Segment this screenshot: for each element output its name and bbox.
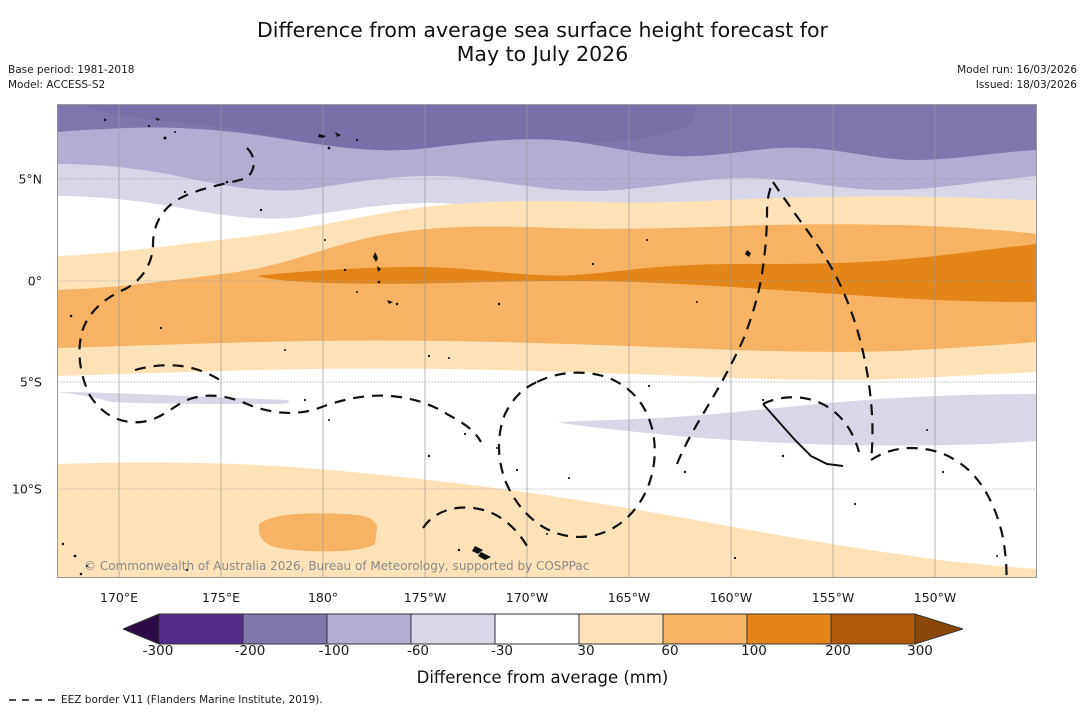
colorbar-seg--100--60	[327, 614, 411, 644]
x-axis-tick-170w: 170°W	[506, 590, 548, 605]
x-axis-tick-155w: 155°W	[812, 590, 854, 605]
colorbar-extend-low	[123, 614, 159, 644]
colorbar-tick--60: -60	[407, 643, 429, 659]
colorbar-tick--100: -100	[319, 643, 350, 659]
issued-text: Issued: 18/03/2026	[957, 78, 1077, 93]
x-axis-tick-175w: 175°W	[404, 590, 446, 605]
colorbar-seg--200--100	[243, 614, 327, 644]
colorbar-tick-100: 100	[741, 643, 767, 659]
model-text: Model: ACCESS-S2	[8, 78, 134, 93]
colorbar-tick-300: 300	[907, 643, 933, 659]
dashed-line-icon	[8, 695, 56, 705]
colorbar-tick-30: 30	[577, 643, 594, 659]
colorbar-seg--300--200	[159, 614, 243, 644]
x-axis-tick-175e: 175°E	[202, 590, 240, 605]
colorbar-seg-200-300	[831, 614, 915, 644]
colorbar-swatches	[123, 612, 963, 646]
colorbar-seg-100-200	[747, 614, 831, 644]
y-axis-tick-0: 0°	[28, 274, 42, 289]
colorbar-tick--30: -30	[491, 643, 513, 659]
colorbar-tick-60: 60	[661, 643, 678, 659]
y-axis-tick-5n: 5°N	[18, 172, 42, 187]
x-axis-tick-180: 180°	[308, 590, 338, 605]
model-run-text: Model run: 16/03/2026	[957, 63, 1077, 78]
colorbar-seg-60-100	[663, 614, 747, 644]
map-plot-area[interactable]: © Commonwealth of Australia 2026, Bureau…	[57, 104, 1037, 578]
y-axis-tick-10s: 10°S	[12, 482, 42, 497]
page-title: Difference from average sea surface heig…	[0, 18, 1085, 66]
metadata-left: Base period: 1981-2018 Model: ACCESS-S2	[8, 63, 134, 93]
colorbar-tick-200: 200	[825, 643, 851, 659]
colorbar-seg-30-60	[579, 614, 663, 644]
metadata-right: Model run: 16/03/2026 Issued: 18/03/2026	[957, 63, 1077, 93]
x-axis-tick-165w: 165°W	[608, 590, 650, 605]
title-line-2: May to July 2026	[0, 42, 1085, 66]
colorbar-tick--300: -300	[143, 643, 174, 659]
colorbar-tick--200: -200	[235, 643, 266, 659]
colorbar-axis-label: Difference from average (mm)	[0, 668, 1085, 687]
x-axis-tick-170e: 170°E	[100, 590, 138, 605]
x-axis-tick-150w: 150°W	[914, 590, 956, 605]
eez-legend: EEZ border V11 (Flanders Marine Institut…	[8, 694, 323, 706]
colorbar-seg--60--30	[411, 614, 495, 644]
band-60-100-southwest-core	[259, 513, 377, 551]
eez-legend-text: EEZ border V11 (Flanders Marine Institut…	[61, 694, 323, 706]
base-period-text: Base period: 1981-2018	[8, 63, 134, 78]
sea-surface-height-contour-map	[57, 104, 1037, 578]
title-line-1: Difference from average sea surface heig…	[0, 18, 1085, 42]
colorbar-extend-high	[915, 614, 963, 644]
x-axis-tick-160w: 160°W	[710, 590, 752, 605]
y-axis-tick-5s: 5°S	[20, 375, 42, 390]
colorbar-seg--30-30	[495, 614, 579, 644]
